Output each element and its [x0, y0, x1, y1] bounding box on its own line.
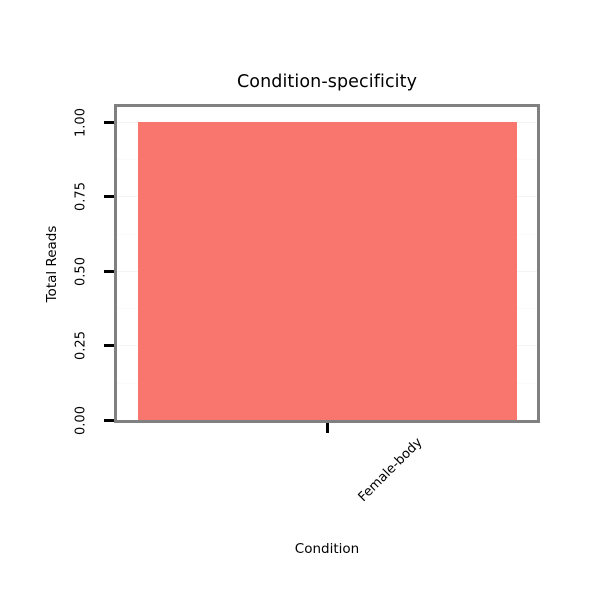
y-tick-label-3: 0.75: [73, 175, 90, 219]
bar-female-body[interactable]: [138, 122, 517, 420]
y-tick-label-1: 0.25: [73, 324, 90, 368]
y-tick-mark-1: [104, 344, 114, 347]
x-axis-title: Condition: [257, 541, 397, 557]
x-tick-label-female-body: Female-body: [356, 435, 426, 505]
chart-title: Condition-specificity: [27, 72, 600, 92]
y-tick-mark-2: [104, 270, 114, 273]
plot-panel-inner: [117, 107, 537, 420]
y-tick-mark-0: [104, 419, 114, 422]
y-tick-mark-3: [104, 195, 114, 198]
y-tick-mark-4: [104, 121, 114, 124]
y-tick-label-0: 0.00: [73, 399, 90, 443]
y-tick-label-2: 0.50: [73, 250, 90, 294]
y-tick-label-4: 1.00: [73, 101, 90, 145]
chart-canvas: Condition-specificity Total Reads 0.00 0…: [0, 0, 600, 600]
plot-panel: [114, 104, 540, 423]
x-tick-mark-0: [326, 423, 329, 433]
y-axis-title: Total Reads: [43, 164, 61, 364]
